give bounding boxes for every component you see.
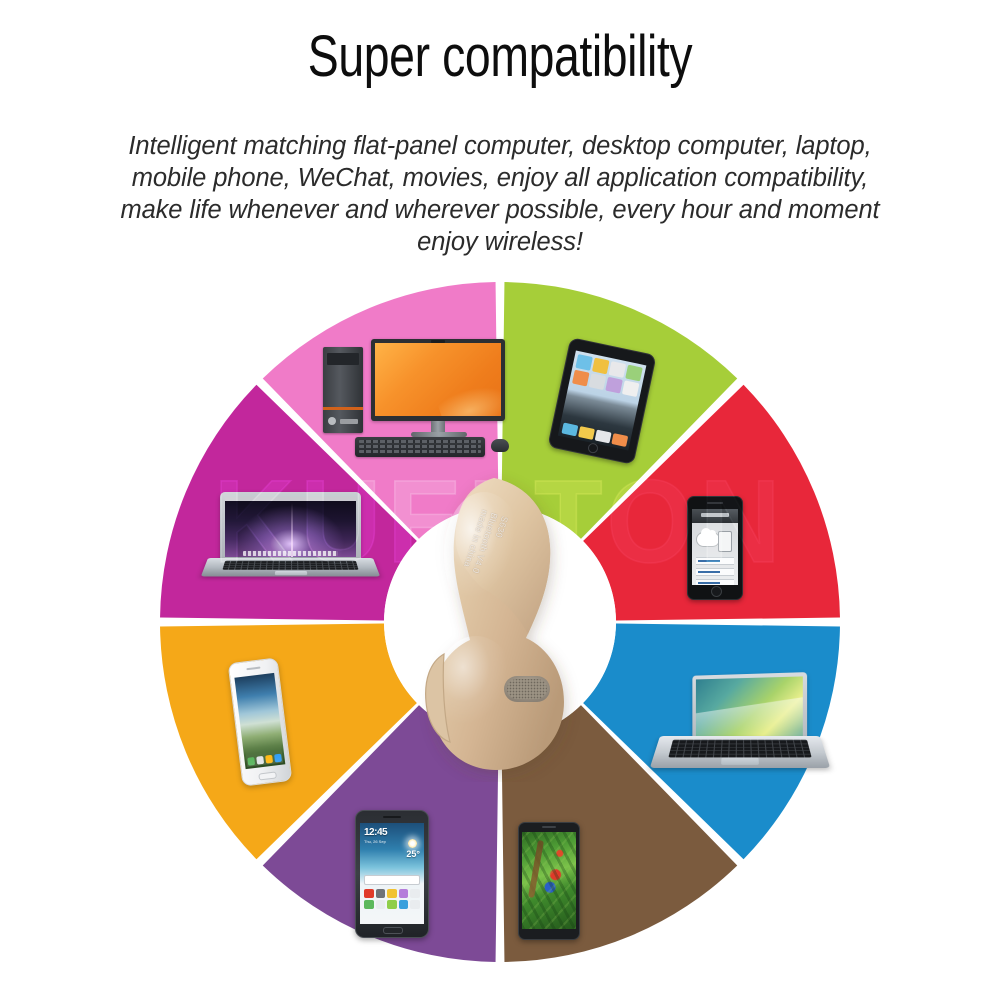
desktop-tower-icon <box>323 347 363 433</box>
earpiece-speaker-icon <box>707 502 723 504</box>
lockscreen-clock: 12:45 <box>364 827 387 838</box>
home-button-icon <box>258 771 277 780</box>
laptop-lid <box>220 492 361 564</box>
earpiece-speaker-icon <box>383 816 401 818</box>
wheel-center-hole <box>384 506 616 738</box>
phone-body: 12:45 Thu, 26 Sep 25° <box>355 810 429 938</box>
dock-icon <box>243 551 337 556</box>
tower-badge <box>340 419 358 424</box>
phone-screen: 12:45 Thu, 26 Sep 25° <box>360 823 424 924</box>
iphone-body <box>687 496 743 600</box>
device-iphone <box>687 496 743 600</box>
device-smartphone-video <box>518 822 580 940</box>
app-dock <box>247 754 282 766</box>
app-grid <box>364 889 420 909</box>
device-laptop-blue <box>660 674 820 786</box>
laptop-keyboard-icon <box>668 740 811 758</box>
keyboard-icon <box>355 437 485 457</box>
laptop-screen <box>225 497 356 557</box>
compatibility-wheel: 12:45 Thu, 26 Sep 25° <box>160 282 840 962</box>
laptop-base <box>650 736 830 768</box>
subtitle-line-1: Intelligent matching flat-panel computer… <box>70 130 930 162</box>
tablet-screen <box>558 350 647 450</box>
search-widget <box>364 875 420 885</box>
tablet-app-grid <box>572 354 643 397</box>
device-galaxy-mega: 12:45 Thu, 26 Sep 25° <box>355 810 429 938</box>
phone-screen-parrot-photo <box>522 832 576 929</box>
iphone-screen <box>692 509 738 585</box>
menu-bar <box>225 497 356 501</box>
home-button-icon <box>711 586 722 597</box>
page-subtitle: Intelligent matching flat-panel computer… <box>70 130 930 258</box>
trackpad-icon <box>721 757 759 764</box>
settings-rows <box>696 557 734 585</box>
subtitle-line-2: mobile phone, WeChat, movies, enjoy all … <box>70 162 930 194</box>
phone-body <box>518 822 580 940</box>
lockscreen-date: Thu, 26 Sep <box>364 839 386 844</box>
phone-illustration-icon <box>718 531 732 552</box>
earpiece-speaker-icon <box>246 667 260 671</box>
mouse-icon <box>491 439 509 452</box>
subtitle-line-4: enjoy wireless! <box>70 226 930 258</box>
nav-bar <box>692 509 738 523</box>
laptop-base <box>201 558 380 576</box>
weather-sun-icon <box>408 839 417 848</box>
earpiece-speaker-icon <box>542 826 556 828</box>
phone-screen <box>234 673 285 769</box>
cloud-icon <box>697 533 719 546</box>
monitor-icon <box>371 339 505 421</box>
trackpad-icon <box>274 571 306 575</box>
home-button-icon <box>383 927 403 934</box>
power-button-icon <box>328 417 336 425</box>
device-desktop-computer <box>323 339 518 459</box>
subtitle-line-3: make life whenever and wherever possible… <box>70 194 930 226</box>
weather-temperature: 25° <box>406 849 420 859</box>
monitor-screen <box>375 343 501 416</box>
laptop-keyboard-icon <box>222 561 358 570</box>
device-macbook <box>208 492 373 592</box>
page-title: Super compatibility <box>100 22 900 92</box>
